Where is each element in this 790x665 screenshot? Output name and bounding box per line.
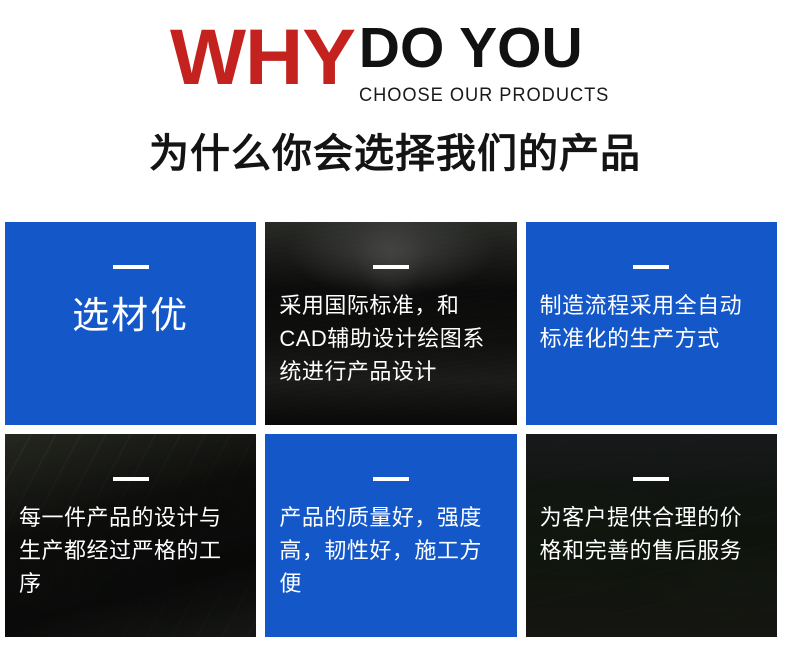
page-subtitle: 为什么你会选择我们的产品 — [0, 128, 790, 180]
feature-card-4: 每一件产品的设计与生产都经过严格的工序 — [5, 434, 256, 637]
feature-card-4-text: 每一件产品的设计与生产都经过严格的工序 — [5, 501, 256, 600]
feature-card-1: 选材优 — [5, 222, 256, 425]
page-header: WHY DO YOU CHOOSE OUR PRODUCTS 为什么你会选择我们… — [0, 0, 790, 208]
headline-do-you: DO YOU — [359, 20, 620, 77]
headline-why: WHY — [170, 14, 355, 100]
divider-bar-icon — [373, 265, 409, 269]
feature-card-6-text: 为客户提供合理的价格和完善的售后服务 — [526, 501, 777, 567]
feature-card-5: 产品的质量好，强度高，韧性好，施工方便 — [265, 434, 516, 637]
headline: WHY DO YOU CHOOSE OUR PRODUCTS — [0, 14, 790, 109]
divider-bar-icon — [113, 477, 149, 481]
feature-grid: 选材优 采用国际标准，和CAD辅助设计绘图系统进行产品设计 制造流程采用全自动标… — [5, 222, 777, 637]
feature-card-5-text: 产品的质量好，强度高，韧性好，施工方便 — [265, 501, 516, 600]
divider-bar-icon — [633, 265, 669, 269]
feature-card-2-text: 采用国际标准，和CAD辅助设计绘图系统进行产品设计 — [265, 289, 516, 388]
divider-bar-icon — [113, 265, 149, 269]
feature-card-1-text: 选材优 — [58, 293, 203, 339]
feature-card-2: 采用国际标准，和CAD辅助设计绘图系统进行产品设计 — [265, 222, 516, 425]
feature-card-3: 制造流程采用全自动标准化的生产方式 — [526, 222, 777, 425]
feature-card-6: 为客户提供合理的价格和完善的售后服务 — [526, 434, 777, 637]
divider-bar-icon — [373, 477, 409, 481]
headline-choose-our-products: CHOOSE OUR PRODUCTS — [359, 83, 609, 109]
divider-bar-icon — [633, 477, 669, 481]
feature-card-3-text: 制造流程采用全自动标准化的生产方式 — [526, 289, 777, 355]
